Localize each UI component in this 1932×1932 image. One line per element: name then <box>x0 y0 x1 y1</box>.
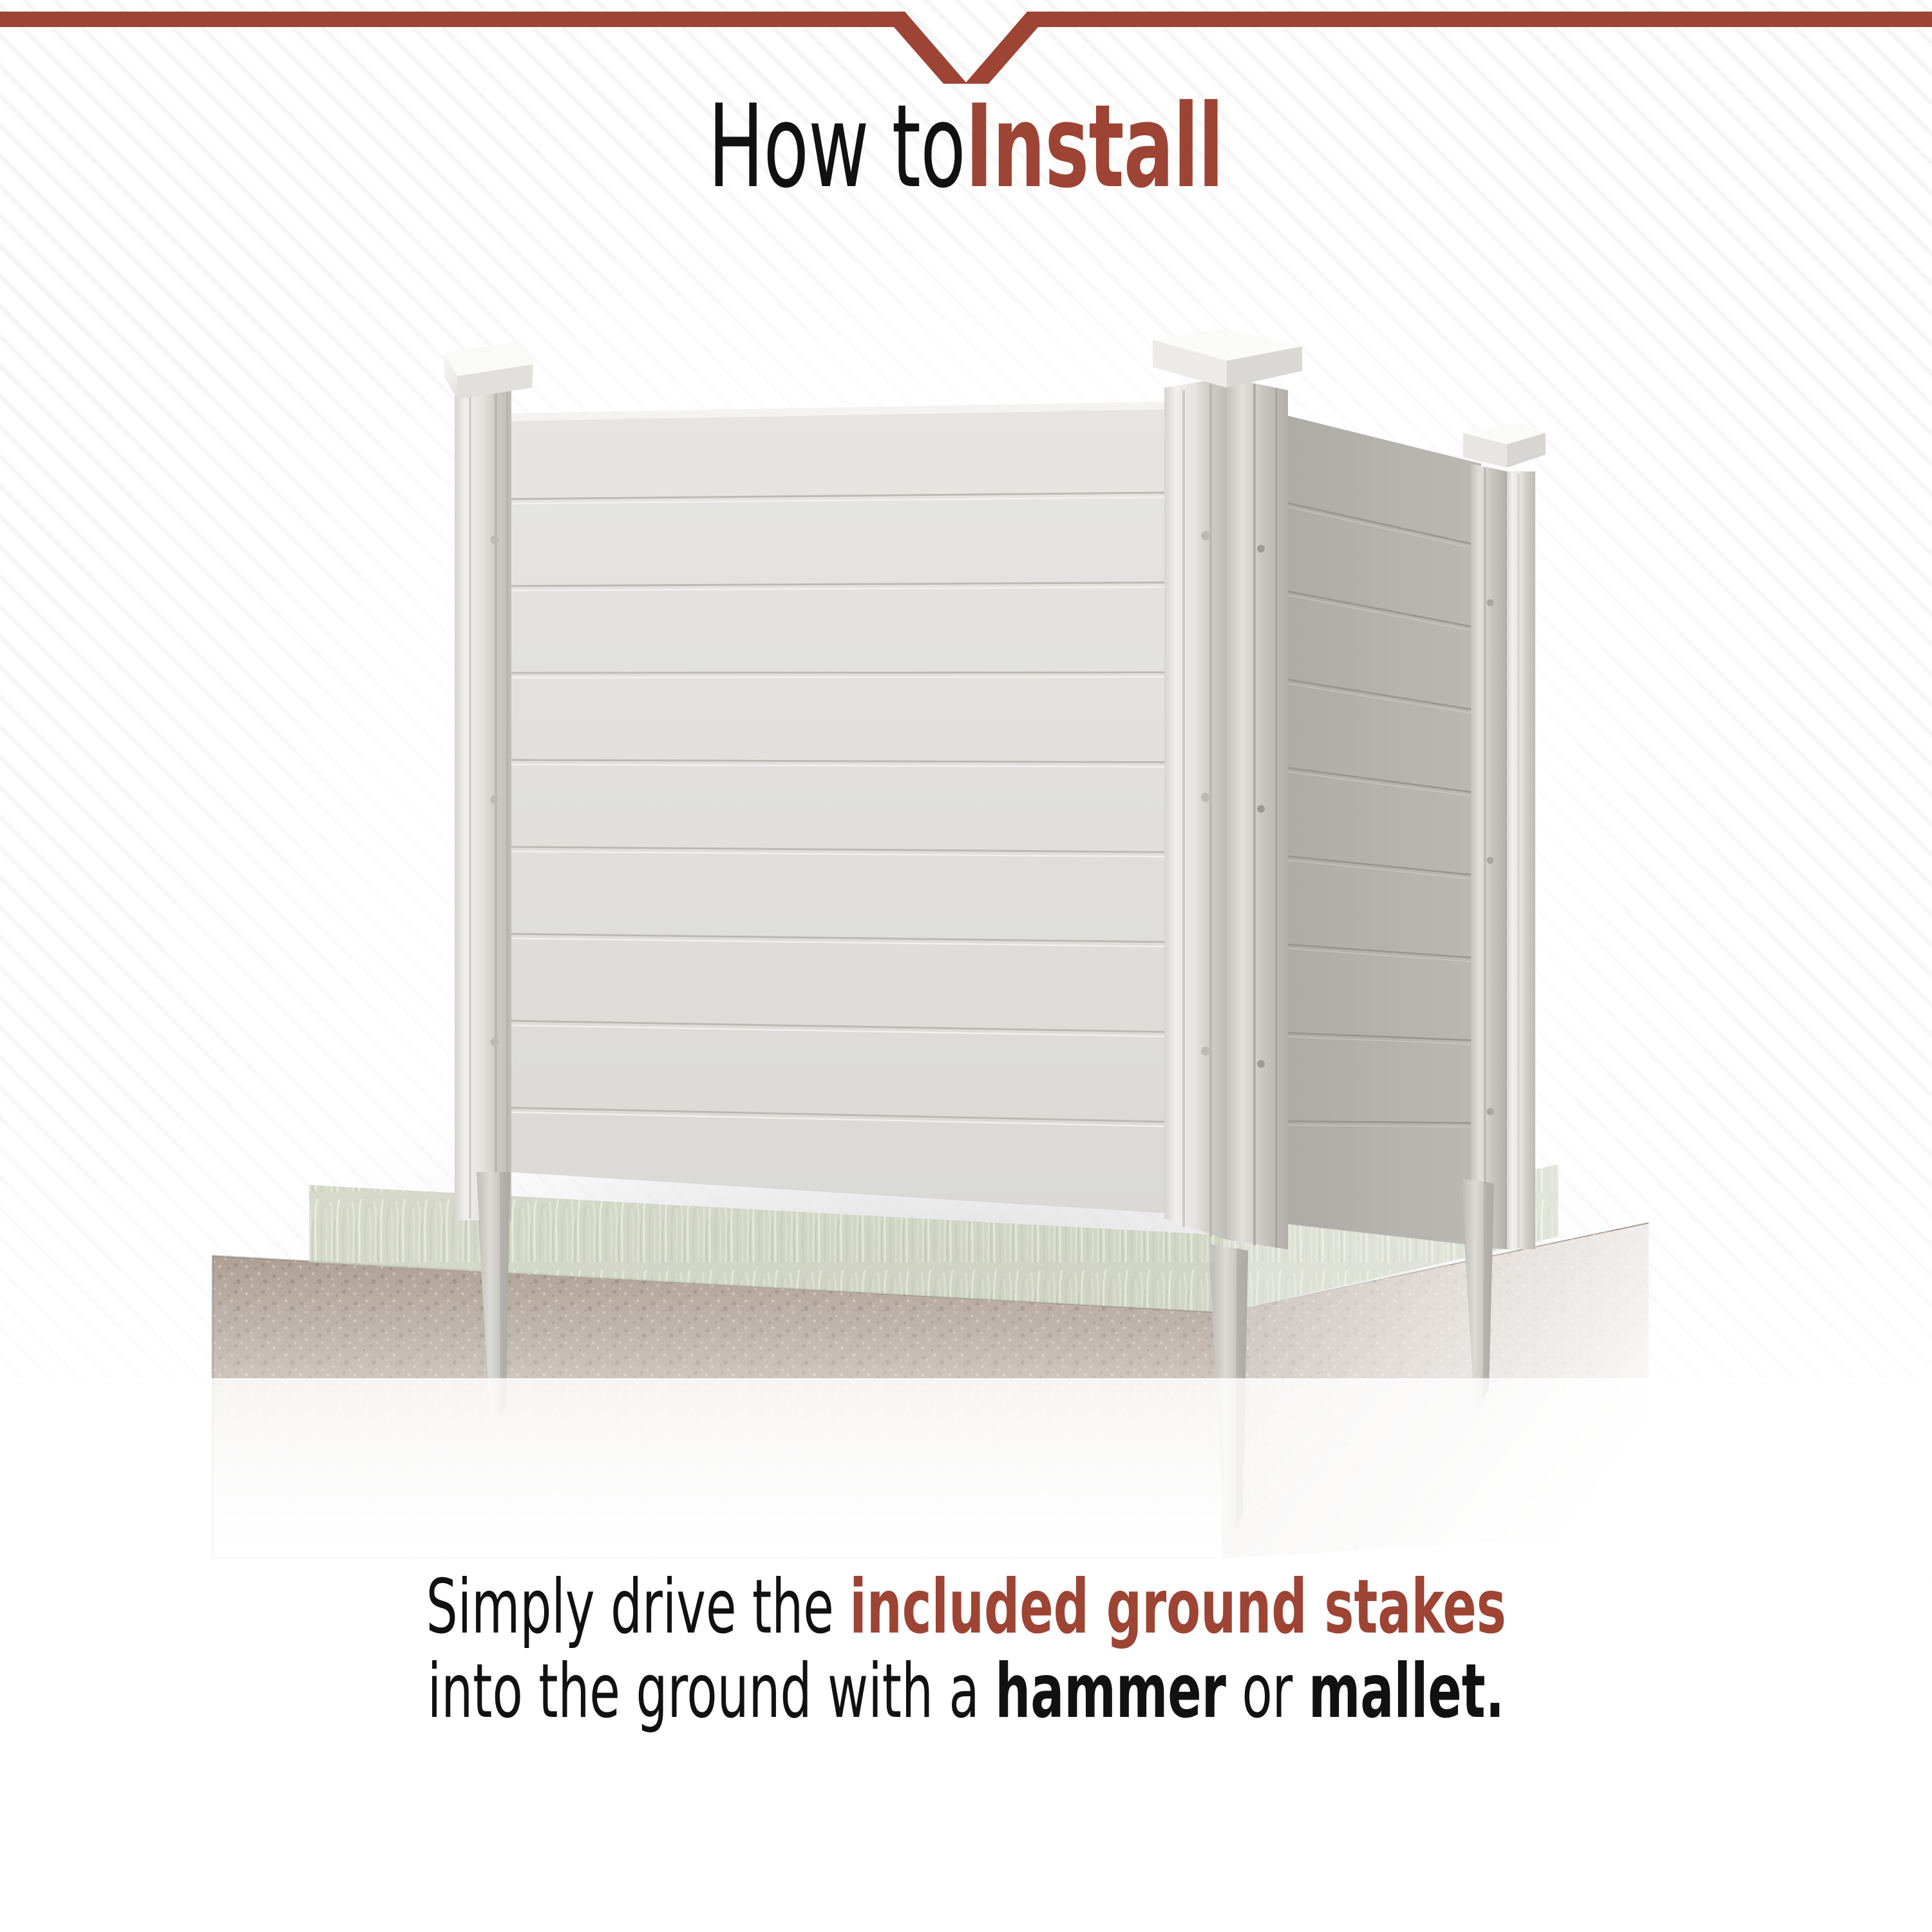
fence-panel-front <box>509 401 1227 1217</box>
page-title-part2: Install <box>965 87 1223 207</box>
page-title: How to Install <box>0 87 1932 207</box>
caption-line2-bold-hammer: hammer <box>995 1648 1226 1735</box>
art-bottom-fade <box>0 1378 1932 1558</box>
caption-block: Simply drive the included ground stakes … <box>0 1565 1932 1734</box>
caption-line-1: Simply drive the included ground stakes <box>0 1565 1932 1649</box>
caption-line1-regular: Simply drive the <box>426 1564 849 1651</box>
caption-line2-regular: into the ground with a <box>428 1648 996 1735</box>
caption-line1-highlight: included ground stakes <box>849 1564 1506 1651</box>
page-title-part1: How to <box>708 87 966 207</box>
header-rule-with-chevron <box>0 0 1932 84</box>
caption-line2-bold-mallet: mallet. <box>1309 1648 1504 1735</box>
fence-post-right <box>1463 422 1546 1249</box>
fence-post-corner <box>1153 328 1302 1249</box>
caption-line2-conjunction: or <box>1226 1648 1309 1735</box>
caption-line-2: into the ground with a hammer or mallet. <box>0 1649 1932 1734</box>
chevron-notch-path <box>0 12 1932 84</box>
install-illustration <box>0 270 1932 1558</box>
